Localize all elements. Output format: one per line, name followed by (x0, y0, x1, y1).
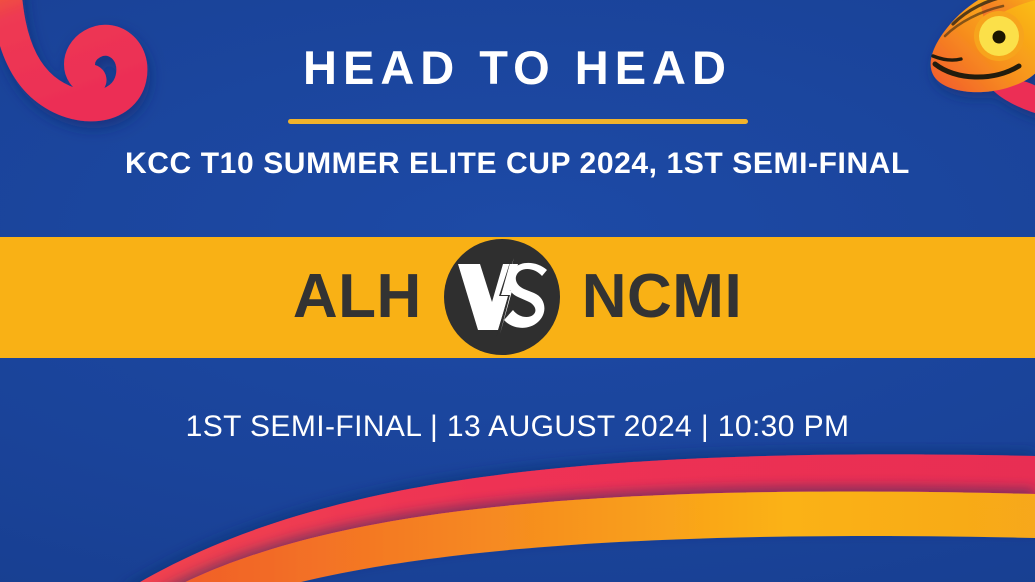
versus-row: ALH NCMI (293, 239, 742, 355)
versus-band: ALH NCMI (0, 237, 1035, 358)
title-divider (288, 119, 748, 124)
team-away-name: NCMI (582, 266, 742, 328)
team-home-name: ALH (293, 266, 422, 328)
head-to-head-poster: HEAD TO HEAD KCC T10 SUMMER ELITE CUP 20… (0, 0, 1035, 582)
page-title: HEAD TO HEAD (0, 44, 1035, 91)
header-block: HEAD TO HEAD KCC T10 SUMMER ELITE CUP 20… (0, 44, 1035, 179)
tournament-subtitle: KCC T10 SUMMER ELITE CUP 2024, 1ST SEMI-… (0, 149, 1035, 179)
vs-lightning-icon (456, 258, 548, 336)
vs-badge (444, 239, 560, 355)
match-meta-line: 1ST SEMI-FINAL | 13 AUGUST 2024 | 10:30 … (0, 412, 1035, 442)
